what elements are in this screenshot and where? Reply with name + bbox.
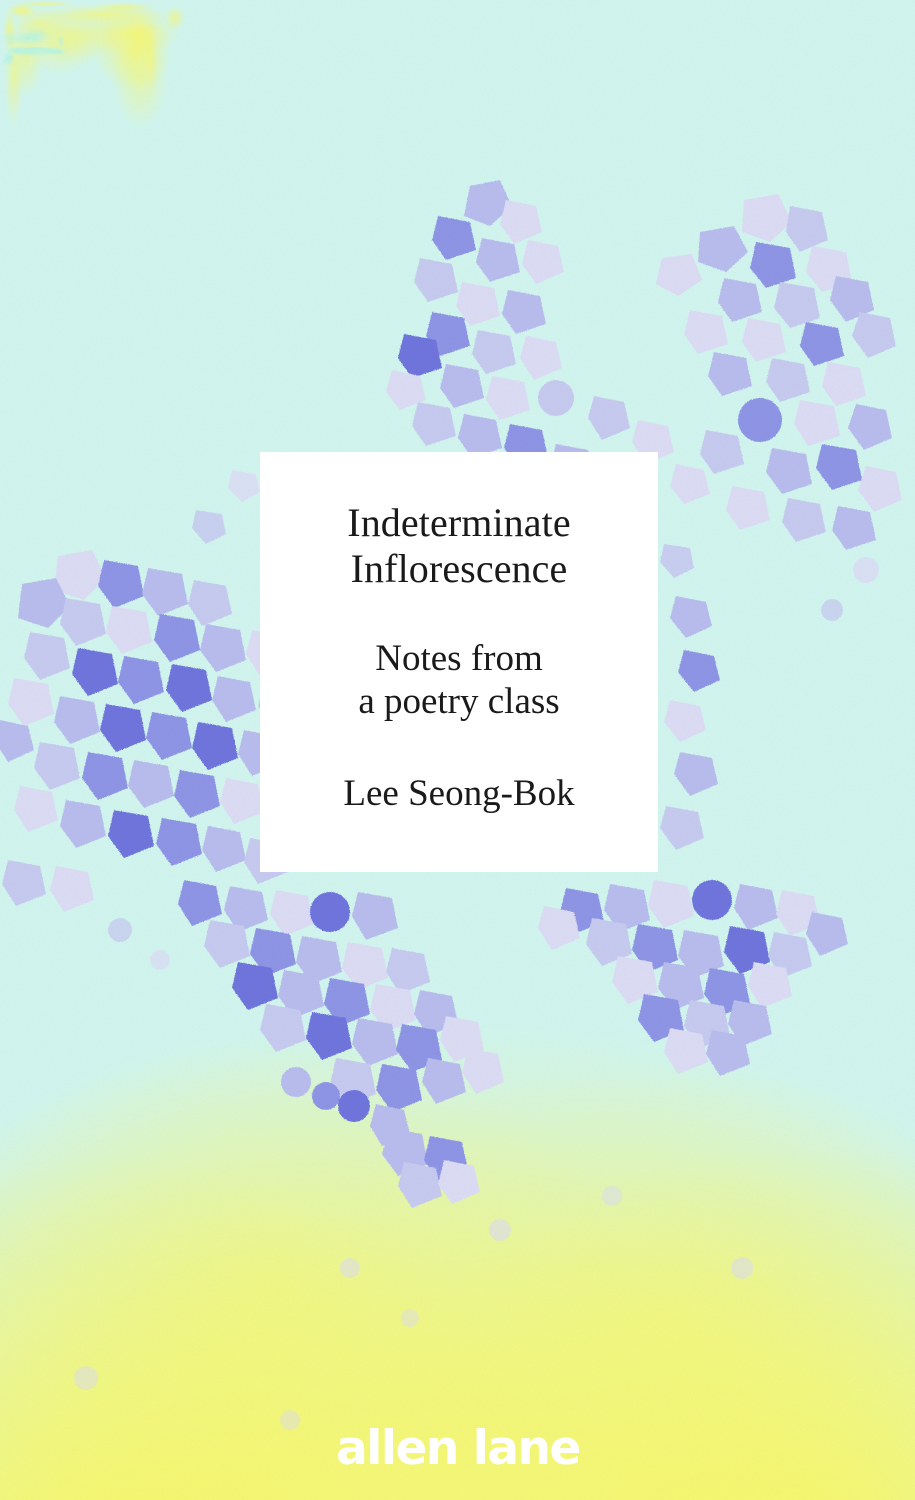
publisher-logo: allen lane <box>0 1420 915 1480</box>
petal-cluster-lower-centre <box>178 880 504 1208</box>
subtitle-line-2: a poetry class <box>260 680 658 724</box>
book-cover: Indeterminate Inflorescence Notes from a… <box>0 0 915 1500</box>
book-subtitle: Notes from a poetry class <box>260 637 658 724</box>
petal-cluster-left-main <box>0 550 300 912</box>
title-line-1: Indeterminate <box>260 500 658 546</box>
petal-cluster-lower-right <box>538 880 848 1076</box>
author-name: Lee Seong-Bok <box>260 772 658 816</box>
petal-cluster-upper-centre <box>386 180 674 496</box>
petal-cluster-upper-right <box>656 194 902 550</box>
publisher-logo-text: allen lane <box>336 1421 580 1476</box>
title-line-2: Inflorescence <box>260 546 658 592</box>
book-author: Lee Seong-Bok <box>260 772 658 816</box>
subtitle-line-1: Notes from <box>260 637 658 681</box>
cover-text-panel: Indeterminate Inflorescence Notes from a… <box>260 452 658 872</box>
book-title: Indeterminate Inflorescence <box>260 500 658 593</box>
